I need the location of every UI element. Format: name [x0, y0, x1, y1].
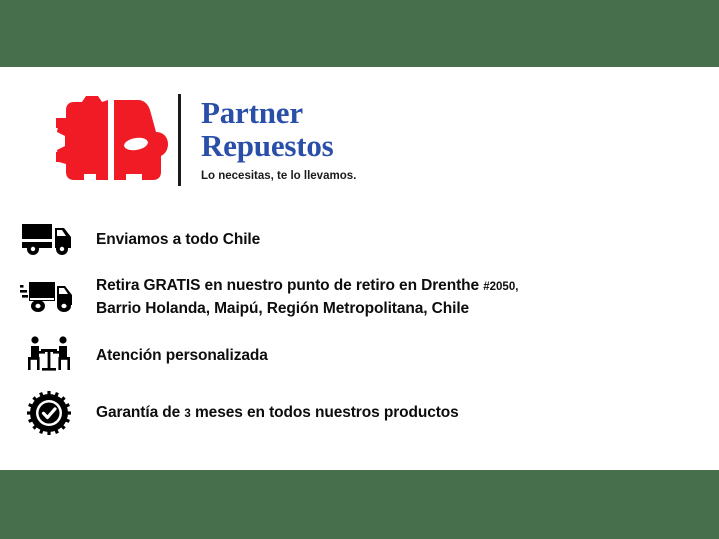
feature-text-pickup: Retira GRATIS en nuestro punto de retiro…	[80, 275, 518, 319]
bottom-green-band	[0, 470, 719, 539]
gear-car-logo-icon	[56, 94, 168, 186]
white-content-plate: Partner Repuestos Lo necesitas, te lo ll…	[0, 67, 719, 470]
promo-banner: Partner Repuestos Lo necesitas, te lo ll…	[0, 0, 719, 539]
delivery-truck-icon	[18, 222, 80, 256]
feature-text-warranty: Garantía de 3 meses en todos nuestros pr…	[80, 402, 459, 425]
brand-logo-lockup: Partner Repuestos Lo necesitas, te lo ll…	[56, 94, 356, 186]
verified-badge-icon	[18, 391, 80, 435]
feature-text-shipping: Enviamos a todo Chile	[80, 229, 260, 250]
feature-row-attention: Atención personalizada	[0, 326, 719, 384]
logo-divider	[178, 94, 181, 186]
feature-row-warranty: Garantía de 3 meses en todos nuestros pr…	[0, 384, 719, 442]
feature-row-shipping: Enviamos a todo Chile	[0, 210, 719, 268]
feature-text-attention: Atención personalizada	[80, 345, 268, 366]
brand-line-2: Repuestos	[201, 129, 356, 162]
brand-tagline: Lo necesitas, te lo llevamos.	[201, 169, 356, 184]
feature-list: Enviamos a todo Chile	[0, 210, 719, 442]
feature-row-pickup: Retira GRATIS en nuestro punto de retiro…	[0, 268, 719, 326]
brand-wordmark: Partner Repuestos Lo necesitas, te lo ll…	[201, 96, 356, 184]
brand-line-1: Partner	[201, 96, 356, 129]
top-green-band	[0, 0, 719, 67]
moving-truck-icon	[18, 279, 80, 315]
people-at-table-icon	[18, 335, 80, 375]
